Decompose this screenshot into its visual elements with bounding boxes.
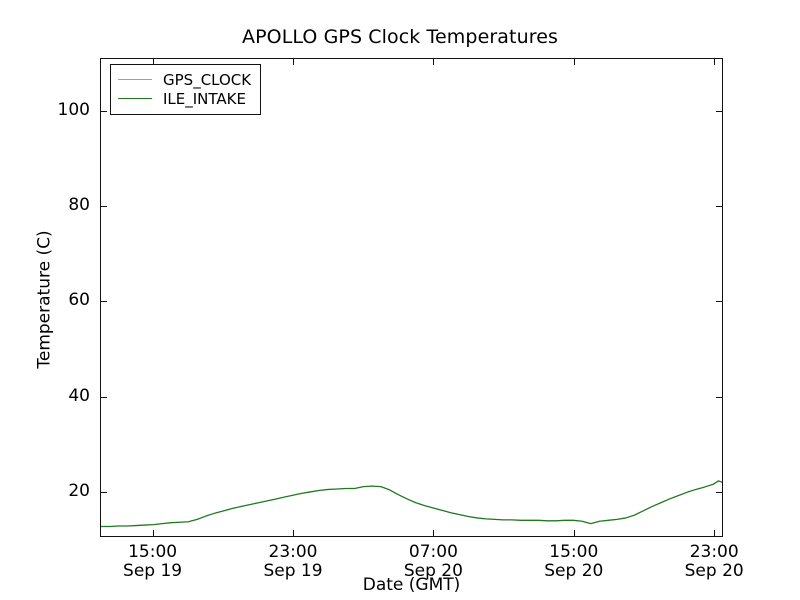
legend-color-swatch	[118, 79, 152, 80]
y-tick-mark	[100, 397, 107, 398]
x-tick-mark	[433, 530, 434, 537]
x-tick-mark-top	[293, 58, 294, 65]
y-tick-mark-right	[716, 111, 723, 112]
x-tick-time: 07:00	[363, 543, 503, 562]
y-tick-mark	[100, 492, 107, 493]
legend-label: GPS_CLOCK	[163, 72, 251, 88]
series-line-ile-intake	[101, 481, 722, 527]
chart-title: APOLLO GPS Clock Temperatures	[0, 26, 800, 48]
y-axis-label: Temperature (C)	[36, 120, 55, 480]
y-tick-mark-right	[716, 206, 723, 207]
x-tick-time: 23:00	[223, 543, 363, 562]
y-tick-mark	[100, 111, 107, 112]
x-axis-label: Date (GMT)	[100, 576, 723, 595]
y-tick-label: 100	[30, 102, 90, 119]
y-tick-label: 20	[30, 483, 90, 500]
y-tick-mark	[100, 206, 107, 207]
plot-canvas	[101, 59, 722, 536]
x-tick-mark	[714, 530, 715, 537]
plot-area	[100, 58, 723, 537]
legend-item-ile-intake[interactable]: ILE_INTAKE	[118, 89, 251, 108]
x-tick-mark	[153, 530, 154, 537]
legend-label: ILE_INTAKE	[163, 91, 246, 107]
y-tick-mark-right	[716, 492, 723, 493]
x-tick-time: 15:00	[504, 543, 644, 562]
legend: GPS_CLOCKILE_INTAKE	[110, 64, 261, 115]
y-tick-mark	[100, 301, 107, 302]
y-tick-mark-right	[716, 397, 723, 398]
legend-item-gps-clock[interactable]: GPS_CLOCK	[118, 70, 251, 89]
x-tick-mark	[574, 530, 575, 537]
x-tick-time: 23:00	[644, 543, 784, 562]
x-tick-mark-top	[433, 58, 434, 65]
y-tick-mark-right	[716, 301, 723, 302]
x-tick-mark	[293, 530, 294, 537]
legend-color-swatch	[118, 98, 152, 99]
x-tick-time: 15:00	[83, 543, 223, 562]
x-tick-mark-top	[574, 58, 575, 65]
x-tick-mark-top	[714, 58, 715, 65]
chart-figure: APOLLO GPS Clock Temperatures 2040608010…	[0, 0, 800, 600]
